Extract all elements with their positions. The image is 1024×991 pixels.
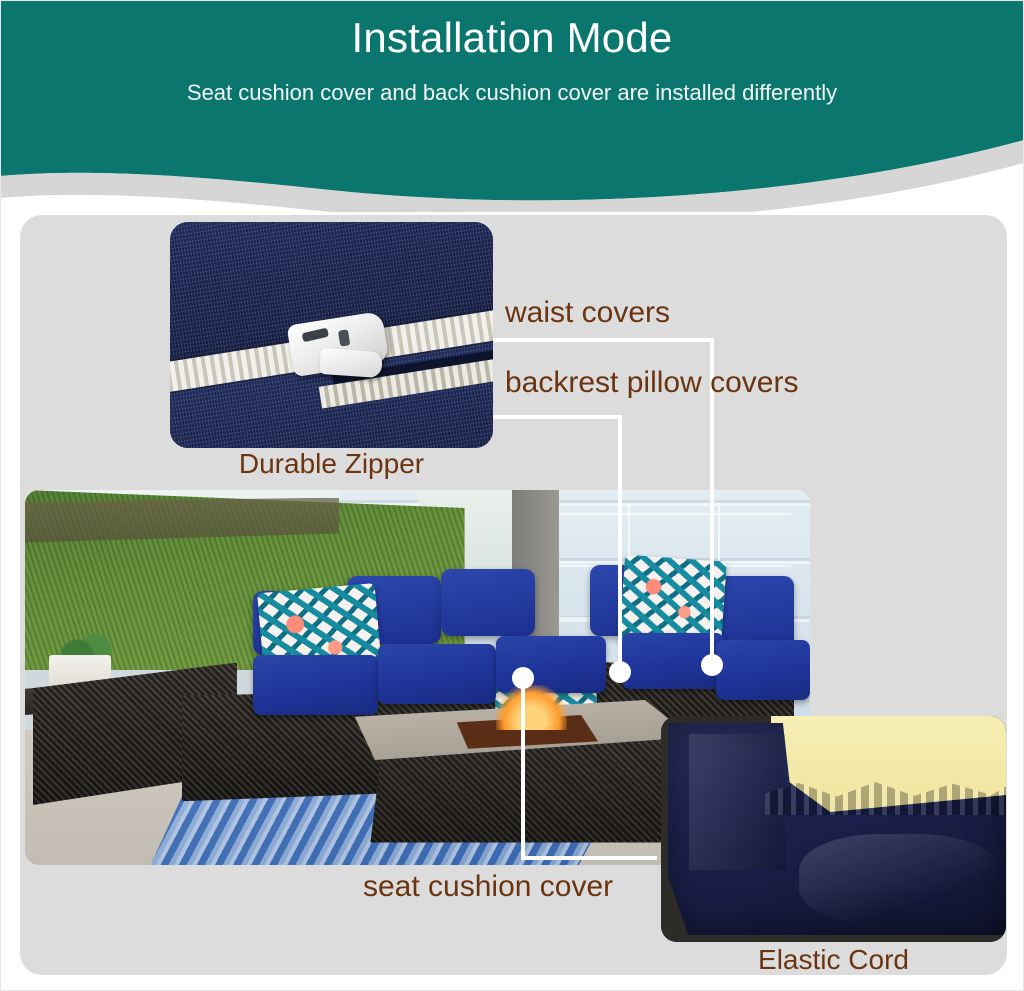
durable-zipper-photo bbox=[170, 222, 493, 448]
callout-label-waist-covers: waist covers bbox=[505, 296, 670, 330]
page-title: Installation Mode bbox=[0, 14, 1024, 62]
callout-label-backrest-pillow-covers: backrest pillow covers bbox=[505, 366, 798, 400]
seat-cushion bbox=[622, 633, 724, 689]
back-cushion bbox=[441, 569, 535, 637]
seat-cushion bbox=[253, 655, 379, 715]
header-banner: Installation Mode Seat cushion cover and… bbox=[0, 0, 1024, 212]
seat-cushion bbox=[378, 644, 496, 704]
fire-flame bbox=[496, 685, 567, 730]
infographic-page: Installation Mode Seat cushion cover and… bbox=[0, 0, 1024, 991]
elastic-cord-photo bbox=[661, 716, 1006, 942]
page-subtitle: Seat cushion cover and back cushion cove… bbox=[0, 80, 1024, 106]
fabric-sheen-highlight bbox=[799, 834, 999, 924]
durable-zipper-caption: Durable Zipper bbox=[170, 448, 493, 480]
callout-label-seat-cushion-cover: seat cushion cover bbox=[363, 870, 613, 904]
zipper-pull-tab-icon bbox=[319, 348, 383, 378]
elastic-cord-caption: Elastic Cord bbox=[661, 944, 1006, 976]
seat-cushion bbox=[716, 640, 810, 700]
